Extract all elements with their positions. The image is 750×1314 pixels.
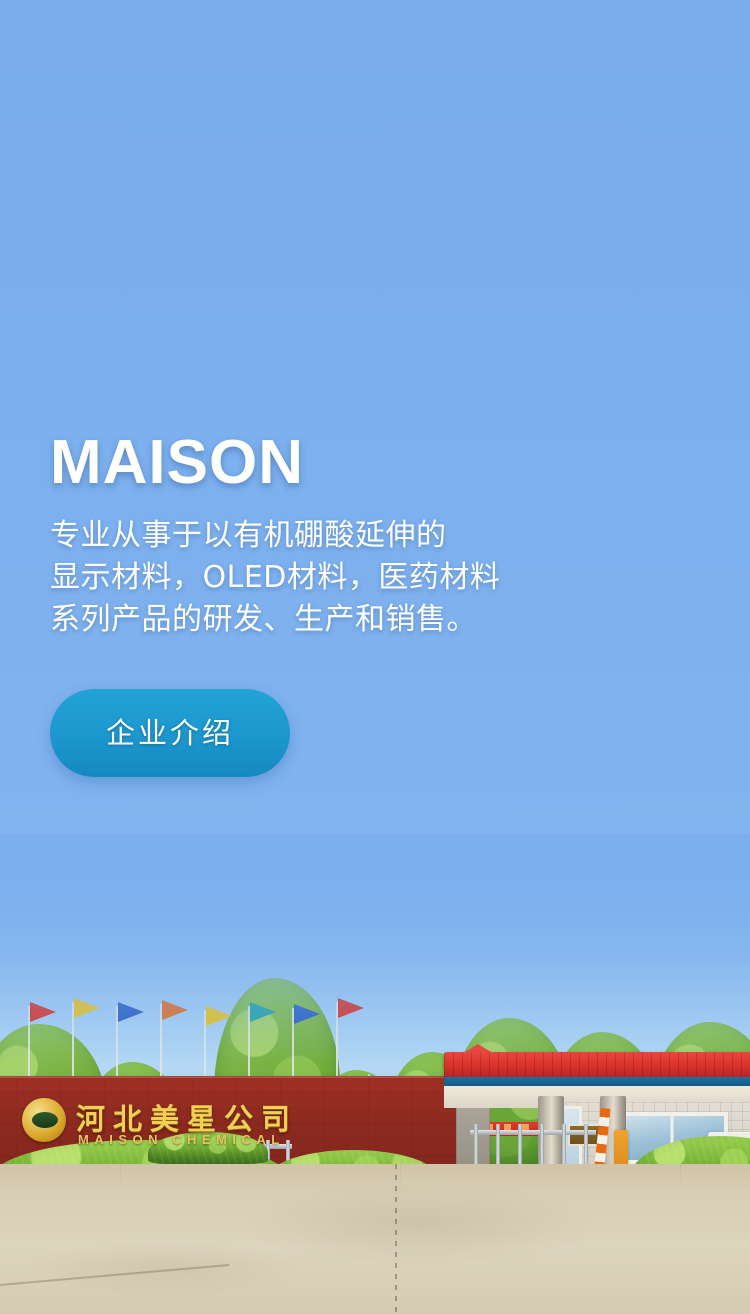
hero-tagline: 专业从事于以有机硼酸延伸的 显示材料，OLED材料，医药材料 系列产品的研发、生… (50, 515, 710, 641)
tagline-line-1: 专业从事于以有机硼酸延伸的 (50, 515, 710, 557)
sign-english-text: MAISON CHEMICAL (78, 1132, 285, 1147)
tagline-line-3: 系列产品的研发、生产和销售。 (50, 599, 710, 641)
factory-entrance-photo: 河北美星公司 MAISON CHEMICAL (0, 834, 750, 1314)
pavement-seam (395, 1164, 397, 1314)
tagline-line-2: 显示材料，OLED材料，医药材料 (50, 557, 710, 599)
company-intro-button[interactable]: 企业介绍 (50, 689, 290, 777)
hero-content: MAISON 专业从事于以有机硼酸延伸的 显示材料，OLED材料，医药材料 系列… (50, 430, 710, 777)
guardhouse-roof (444, 1052, 750, 1078)
company-logo-icon (22, 1098, 66, 1142)
page-title: MAISON (50, 430, 710, 495)
pavement (0, 1164, 750, 1314)
hero-banner: 河北美星公司 MAISON CHEMICAL (0, 0, 750, 1314)
